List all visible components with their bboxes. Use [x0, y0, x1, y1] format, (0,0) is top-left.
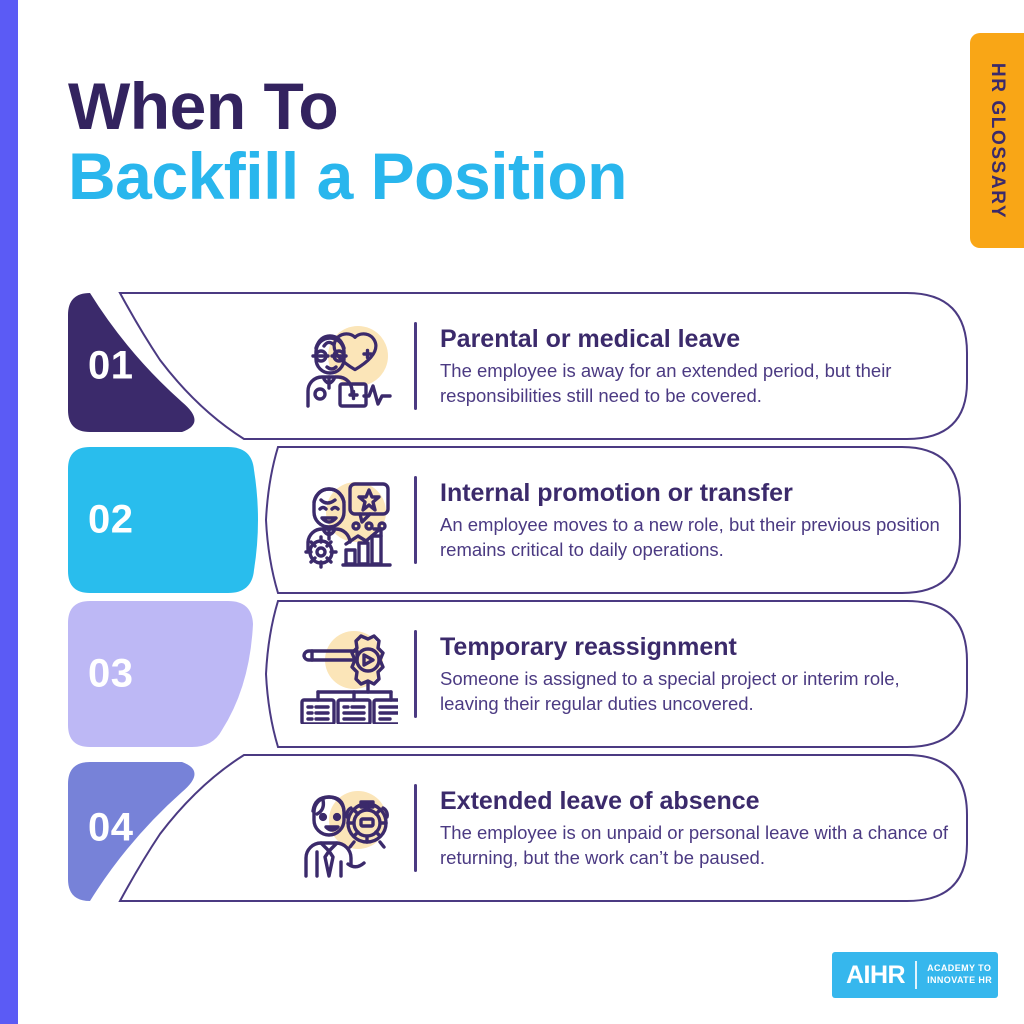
badge-shape-02: [0, 444, 280, 596]
badge-02: 02: [0, 444, 280, 596]
card-divider-4: [414, 784, 417, 872]
internal-promotion-icon: [288, 470, 398, 570]
card-divider-2: [414, 476, 417, 564]
extended-leave-icon: [288, 778, 398, 878]
badge-01: 01: [0, 290, 280, 442]
logo-wordmark: AIHR: [846, 961, 905, 990]
card-text-2: Internal promotion or transfer An employ…: [440, 478, 950, 562]
aihr-logo: AIHR ACADEMY TO INNOVATE HR: [832, 952, 998, 998]
badge-shape-03: [0, 598, 280, 750]
card-heading-3: Temporary reassignment: [440, 632, 950, 663]
card-body-1: The employee is away for an extended per…: [440, 358, 950, 408]
badge-number-01: 01: [88, 344, 134, 389]
card-body-line-1: The employee is on unpaid or personal le…: [440, 822, 863, 843]
card-body-2: An employee moves to a new role, but the…: [440, 512, 950, 562]
title-line-2: Backfill a Position: [68, 142, 627, 212]
list-item[interactable]: 01: [0, 290, 1024, 442]
list-item[interactable]: 03: [0, 598, 1024, 750]
list-item[interactable]: 04: [0, 752, 1024, 904]
logo-tagline-line-2: INNOVATE HR: [927, 975, 992, 985]
card-body-line-1: An employee moves to a new role, but the…: [440, 514, 871, 535]
parental-medical-leave-icon: [288, 316, 398, 416]
card-text-3: Temporary reassignment Someone is assign…: [440, 632, 950, 716]
card-heading-2: Internal promotion or transfer: [440, 478, 950, 509]
card-body-3: Someone is assigned to a special project…: [440, 666, 950, 716]
badge-03: 03: [0, 598, 280, 750]
badge-number-02: 02: [88, 498, 134, 543]
card-heading-1: Parental or medical leave: [440, 324, 950, 355]
badge-number-04: 04: [88, 806, 134, 851]
card-heading-4: Extended leave of absence: [440, 786, 950, 817]
hr-glossary-tab-label: HR GLOSSARY: [986, 62, 1008, 218]
logo-divider: [915, 961, 917, 989]
badge-number-03: 03: [88, 652, 134, 697]
page-title: When To Backfill a Position: [68, 72, 627, 212]
card-body-4: The employee is on unpaid or personal le…: [440, 820, 950, 870]
card-divider-3: [414, 630, 417, 718]
card-text-4: Extended leave of absence The employee i…: [440, 786, 950, 870]
badge-04: 04: [0, 752, 280, 904]
logo-tagline-line-1: ACADEMY TO: [927, 963, 991, 973]
badge-shape-01: [0, 290, 280, 442]
list-item[interactable]: 02: [0, 444, 1024, 596]
badge-shape-04: [0, 752, 280, 904]
hr-glossary-tab: HR GLOSSARY: [970, 33, 1024, 248]
reasons-list: 01: [0, 290, 1024, 910]
card-text-1: Parental or medical leave The employee i…: [440, 324, 950, 408]
card-body-line-1: Someone is assigned to a special project…: [440, 668, 859, 689]
logo-tagline: ACADEMY TO INNOVATE HR: [927, 963, 992, 987]
title-line-1: When To: [68, 72, 627, 142]
card-divider-1: [414, 322, 417, 410]
card-body-line-1: The employee is away for an extended per…: [440, 360, 850, 381]
temporary-reassignment-icon: [288, 624, 398, 724]
